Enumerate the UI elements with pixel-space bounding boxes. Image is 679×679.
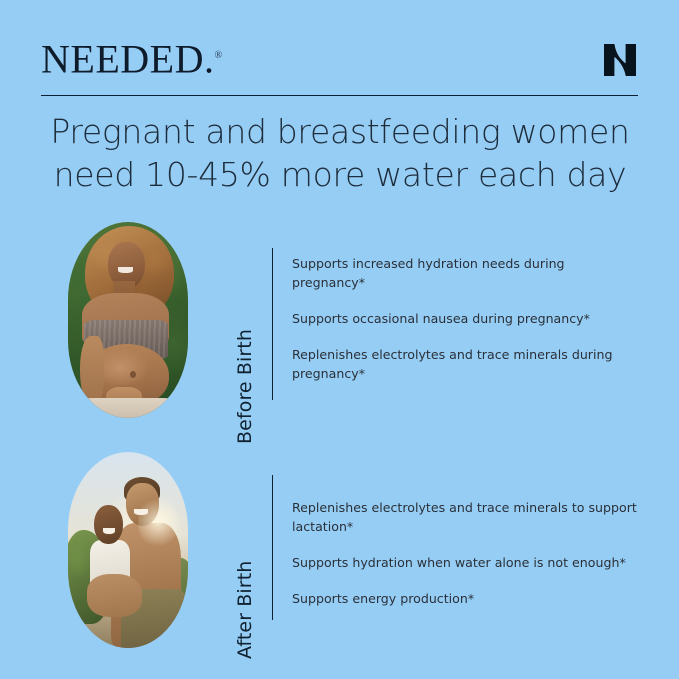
photo-smile (118, 267, 132, 273)
photo-bottoms (75, 398, 181, 418)
infographic-page: NEEDED.® Pregnant and breastfeeding wome… (0, 0, 679, 679)
brand-wordmark-period: . (204, 36, 215, 81)
registered-trademark-icon: ® (214, 50, 222, 61)
photo-sun-glow (138, 495, 179, 550)
header: NEEDED.® (41, 32, 638, 84)
page-title: Pregnant and breastfeeding women need 10… (40, 110, 640, 196)
header-divider (41, 95, 638, 96)
photo-pregnant-woman (68, 222, 188, 418)
headline-line-2: need 10-45% more water each day (40, 153, 640, 196)
benefit-list-after-birth: Replenishes electrolytes and trace miner… (292, 498, 640, 608)
headline-line-1: Pregnant and breastfeeding women (40, 110, 640, 153)
photo-arm (80, 336, 104, 407)
section-label-before-birth: Before Birth (234, 329, 256, 444)
brand-wordmark: NEEDED.® (41, 32, 222, 83)
photo-baby-face (94, 505, 123, 544)
benefit-item: Replenishes electrolytes and trace miner… (292, 498, 640, 536)
photo-mother-and-baby (68, 452, 188, 648)
section-after-birth: After Birth Replenishes electrolytes and… (0, 452, 679, 650)
benefit-item: Supports increased hydration needs durin… (292, 254, 640, 292)
benefit-item: Replenishes electrolytes and trace miner… (292, 345, 640, 383)
section-divider-before-birth (272, 248, 273, 400)
photo-mother-arms (87, 574, 142, 617)
benefit-list-before-birth: Supports increased hydration needs durin… (292, 254, 640, 383)
brand-wordmark-text: NEEDED (41, 36, 204, 81)
benefit-item: Supports hydration when water alone is n… (292, 553, 640, 572)
benefit-item: Supports occasional nausea during pregna… (292, 309, 640, 328)
section-before-birth: Before Birth Supports increased hydratio… (0, 222, 679, 422)
section-label-after-birth: After Birth (234, 561, 256, 659)
n-monogram-icon (602, 43, 638, 77)
section-divider-after-birth (272, 475, 273, 620)
benefit-item: Supports energy production* (292, 589, 640, 608)
